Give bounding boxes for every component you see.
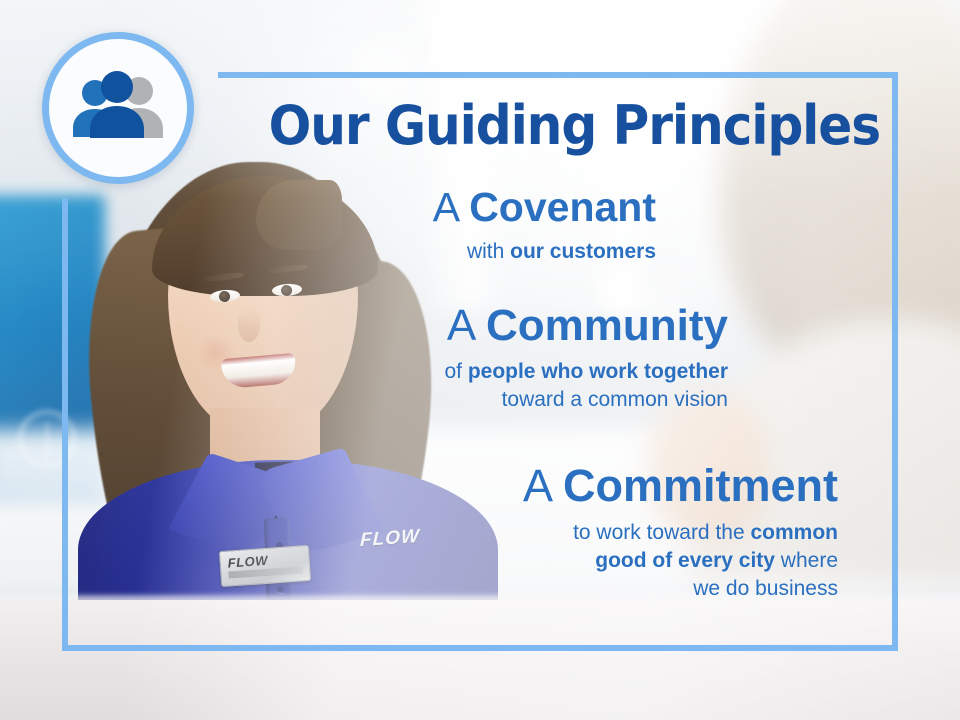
principle-subline: toward a common vision bbox=[444, 386, 728, 414]
principle-keyword: Covenant bbox=[469, 184, 656, 230]
principle-article: A bbox=[447, 301, 486, 350]
principle-article: A bbox=[433, 184, 469, 230]
principle-subtext: to work toward the common good of every … bbox=[523, 519, 838, 603]
principle-block-covenant: A Covenant with our customers bbox=[433, 186, 656, 266]
principle-heading: A Community bbox=[444, 303, 728, 349]
principle-block-commitment: A Commitment to work toward the common g… bbox=[523, 463, 838, 603]
principle-article: A bbox=[523, 460, 563, 511]
principle-keyword: Commitment bbox=[563, 460, 838, 511]
principle-heading: A Commitment bbox=[523, 463, 838, 510]
principle-subline: of people who work together bbox=[444, 358, 728, 386]
principle-subline: with our customers bbox=[433, 238, 656, 266]
principle-subline: good of every city where bbox=[523, 547, 838, 575]
principle-keyword: Community bbox=[486, 301, 728, 350]
principle-subtext: with our customers bbox=[433, 238, 656, 266]
principle-heading: A Covenant bbox=[433, 186, 656, 229]
guiding-principles-graphic: FLOW FLOW bbox=[0, 0, 960, 720]
principle-block-community: A Community of people who work together … bbox=[444, 303, 728, 414]
page-title: Our Guiding Principles bbox=[62, 94, 880, 157]
principle-subline: we do business bbox=[523, 575, 838, 603]
principle-subtext: of people who work together toward a com… bbox=[444, 358, 728, 414]
principle-subline: to work toward the common bbox=[523, 519, 838, 547]
text-content: Our Guiding Principles A Covenant with o… bbox=[0, 0, 960, 720]
